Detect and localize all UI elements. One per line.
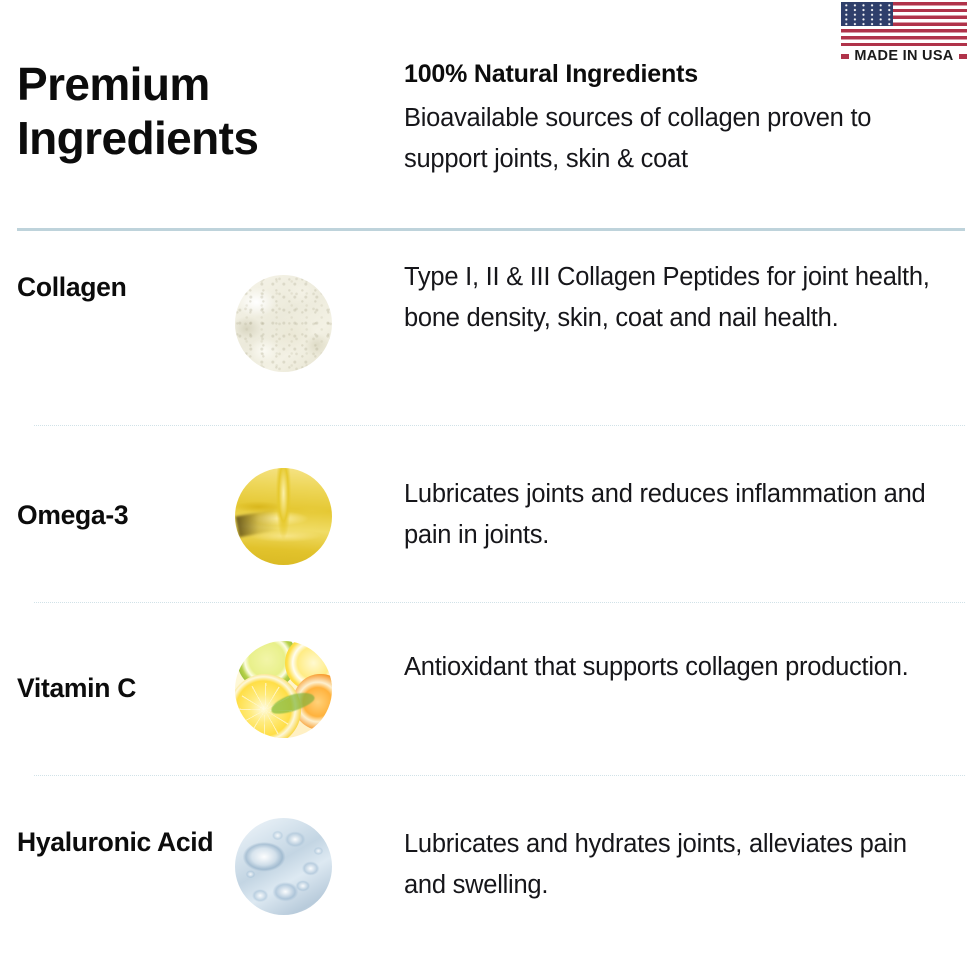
ingredient-row-vitamin-c: Vitamin C Antioxidant that supports coll…	[0, 641, 972, 741]
ingredient-name: Hyaluronic Acid	[17, 820, 217, 865]
header: Premium Ingredients 100% Natural Ingredi…	[0, 0, 972, 229]
powder-texture	[235, 275, 332, 372]
citrus-texture	[235, 641, 332, 738]
page-title: Premium Ingredients	[17, 57, 377, 166]
ingredients-infographic: MADE IN USA Premium Ingredients 100% Nat…	[0, 0, 972, 959]
ingredient-name: Vitamin C	[17, 666, 217, 711]
ingredient-name: Collagen	[17, 265, 217, 310]
row-separator-3	[34, 775, 965, 777]
intro-body: Bioavailable sources of collagen proven …	[404, 98, 949, 181]
ingredient-row-collagen: Collagen Type I, II & III Collagen Pepti…	[0, 275, 972, 375]
ingredient-description: Antioxidant that supports collagen produ…	[404, 647, 949, 688]
header-divider	[17, 228, 965, 231]
intro-title: 100% Natural Ingredients	[404, 58, 949, 92]
ingredient-row-omega3: Omega-3 Lubricates joints and reduces in…	[0, 468, 972, 568]
collagen-powder-image	[235, 275, 332, 372]
intro-block: 100% Natural Ingredients Bioavailable so…	[404, 58, 949, 180]
row-separator-1	[34, 425, 965, 427]
ingredient-description: Type I, II & III Collagen Peptides for j…	[404, 257, 949, 340]
ingredient-description: Lubricates joints and reduces inflammati…	[404, 474, 949, 557]
ingredient-description: Lubricates and hydrates joints, alleviat…	[404, 824, 949, 907]
oil-texture	[235, 468, 332, 565]
citrus-image	[235, 641, 332, 738]
fish-oil-image	[235, 468, 332, 565]
ingredient-row-hyaluronic-acid: Hyaluronic Acid Lubricates and hydrates …	[0, 818, 972, 918]
ingredient-name: Omega-3	[17, 493, 217, 538]
water-droplets-image	[235, 818, 332, 915]
water-texture	[235, 818, 332, 915]
row-separator-2	[34, 602, 965, 604]
